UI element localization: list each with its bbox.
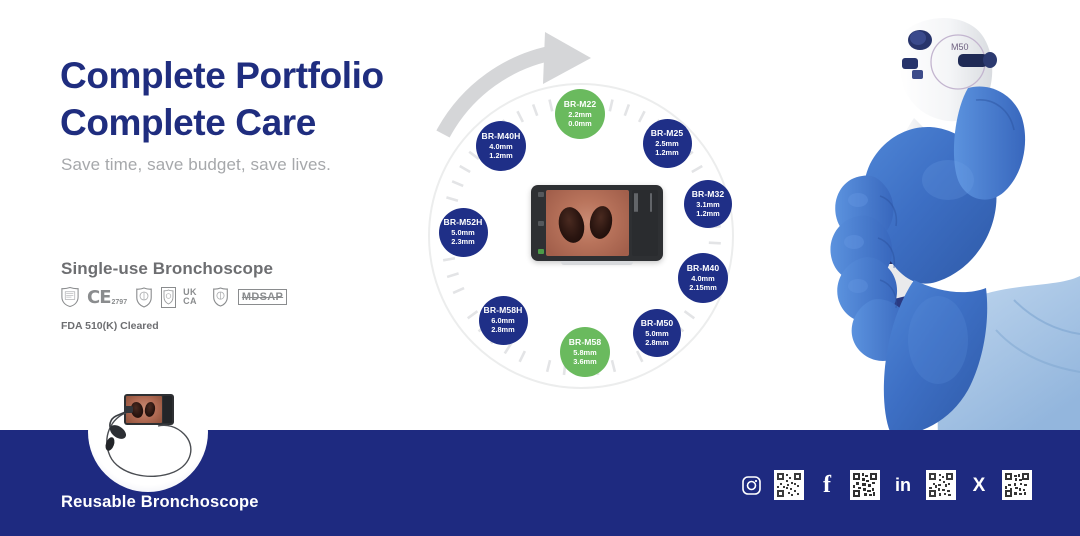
shield-icon — [134, 286, 154, 308]
node-working-channel: 2.8mm — [645, 338, 668, 348]
mdsap-shield-icon — [211, 286, 231, 308]
ukca-mark: UK CA — [183, 288, 197, 305]
node-outer-diameter: 2.2mm — [568, 110, 591, 120]
facebook-qr-code[interactable] — [850, 470, 880, 500]
node-outer-diameter: 5.0mm — [451, 228, 474, 238]
x-glyph: X — [973, 476, 986, 495]
node-outer-diameter: 3.1mm — [696, 200, 719, 210]
boxed-cert-glyph — [161, 287, 176, 308]
ukca-glyph: UK CA — [183, 288, 197, 305]
wheel-node-br-m58h[interactable]: BR-M58H6.0mm2.8mm — [479, 296, 528, 345]
node-outer-diameter: 4.0mm — [691, 274, 714, 284]
wheel-node-br-m32[interactable]: BR-M323.1mm1.2mm — [684, 180, 732, 228]
certification-row: CE 2797 UK CA — [60, 286, 287, 308]
node-model-name: BR-M25 — [651, 128, 684, 139]
node-model-name: BR-M50 — [641, 318, 674, 329]
node-outer-diameter: 5.8mm — [573, 348, 596, 358]
facebook-icon[interactable]: f — [816, 474, 838, 496]
page-title: Complete Portfolio Complete Care — [60, 52, 384, 147]
node-working-channel: 2.15mm — [689, 283, 717, 293]
node-outer-diameter: 4.0mm — [489, 142, 512, 152]
facebook-glyph: f — [823, 473, 831, 497]
monitor-button-top[interactable] — [538, 192, 544, 197]
wheel-node-br-m40h[interactable]: BR-M40H4.0mm1.2mm — [476, 121, 526, 171]
headline-line-2: Complete Care — [60, 99, 384, 146]
wheel-node-br-m25[interactable]: BR-M252.5mm1.2mm — [643, 119, 692, 168]
endoscopy-image — [546, 190, 629, 256]
airway-left — [556, 204, 588, 245]
boxed-cert-icon — [161, 287, 176, 308]
wheel-node-br-m58[interactable]: BR-M585.8mm3.6mm — [560, 327, 610, 377]
node-model-name: BR-M58H — [484, 305, 523, 316]
node-working-channel: 1.2mm — [655, 148, 678, 158]
product-label: Single-use Bronchoscope — [61, 259, 273, 279]
instagram-icon[interactable] — [740, 474, 762, 496]
wheel-node-br-m52h[interactable]: BR-M52H5.0mm2.3mm — [439, 208, 488, 257]
shield-glyph — [134, 286, 154, 308]
node-model-name: BR-M40 — [687, 263, 720, 274]
wheel-node-br-m40[interactable]: BR-M404.0mm2.15mm — [678, 253, 728, 303]
node-model-name: BR-M40H — [482, 131, 521, 142]
mdsap-mark: MDSAP — [238, 289, 287, 305]
linkedin-glyph: in — [895, 476, 911, 494]
mdsap-glyph: MDSAP — [238, 289, 287, 305]
device-model-text: M50 — [951, 42, 969, 52]
panel-icon-3[interactable] — [650, 193, 652, 212]
wheel-node-br-m50[interactable]: BR-M505.0mm2.8mm — [633, 309, 681, 357]
node-model-name: BR-M52H — [444, 217, 483, 228]
iso-shield-icon — [60, 286, 80, 308]
monitor-stand — [561, 261, 633, 265]
ce-glyph: CE — [87, 287, 111, 308]
x-twitter-icon[interactable]: X — [968, 474, 990, 496]
node-working-channel: 2.8mm — [491, 325, 514, 335]
node-model-name: BR-M32 — [692, 189, 725, 200]
monitor-left-rail — [536, 190, 546, 256]
social-links: f in — [740, 470, 1032, 500]
node-outer-diameter: 6.0mm — [491, 316, 514, 326]
panel-icon-2[interactable] — [636, 193, 638, 212]
gloved-hand-holding-bronchoscope-photo: M50 HugeMed — [818, 0, 1080, 436]
node-working-channel: 3.6mm — [573, 357, 596, 367]
airway-right — [588, 204, 615, 240]
bronchoscope-monitor — [531, 185, 663, 261]
ukca-line-2: CA — [183, 297, 197, 306]
reusable-scope-cable-illustration — [96, 398, 216, 488]
shield-glyph — [60, 286, 80, 308]
node-outer-diameter: 2.5mm — [655, 139, 678, 149]
ce-notified-body-number: 2797 — [112, 299, 128, 306]
fda-clearance-text: FDA 510(K) Cleared — [61, 320, 159, 332]
instagram-qr-code[interactable] — [774, 470, 804, 500]
node-working-channel: 0.0mm — [568, 119, 591, 129]
shield-glyph — [211, 286, 231, 308]
subheadline: Save time, save budget, save lives. — [61, 155, 331, 175]
node-model-name: BR-M58 — [569, 337, 602, 348]
monitor-control-panel — [632, 190, 658, 256]
monitor-button-power[interactable] — [538, 249, 544, 254]
node-outer-diameter: 5.0mm — [645, 329, 668, 339]
node-working-channel: 2.3mm — [451, 237, 474, 247]
x-twitter-qr-code[interactable] — [1002, 470, 1032, 500]
monitor-button-mid[interactable] — [538, 221, 544, 226]
linkedin-qr-code[interactable] — [926, 470, 956, 500]
linkedin-icon[interactable]: in — [892, 474, 914, 496]
node-working-channel: 1.2mm — [489, 151, 512, 161]
headline-line-1: Complete Portfolio — [60, 52, 384, 99]
node-model-name: BR-M22 — [564, 99, 597, 110]
ce-mark: CE 2797 — [87, 287, 127, 308]
poster-canvas: Complete Portfolio Complete Care Save ti… — [0, 0, 1080, 536]
reusable-bronchoscope-label: Reusable Bronchoscope — [61, 493, 259, 512]
node-working-channel: 1.2mm — [696, 209, 719, 219]
wheel-node-br-m22[interactable]: BR-M222.2mm0.0mm — [555, 89, 605, 139]
bronchoscope-illustration: M50 HugeMed — [818, 0, 1080, 436]
